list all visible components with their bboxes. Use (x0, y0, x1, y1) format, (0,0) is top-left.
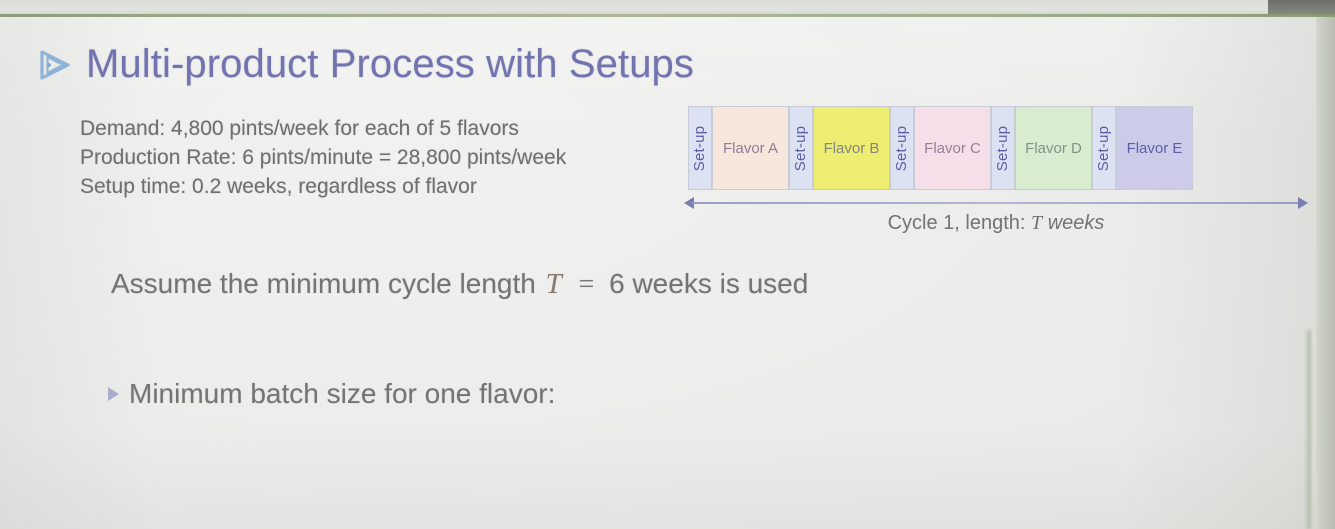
flavor-cell-e: Flavor E (1116, 106, 1193, 190)
arrow-line (692, 202, 1300, 204)
parameter-block: Demand: 4,800 pints/week for each of 5 f… (80, 114, 566, 201)
parameter-line-setup-time: Setup time: 0.2 weeks, regardless of fla… (80, 172, 566, 201)
flavor-cell-label-a: Flavor A (723, 140, 778, 157)
triangle-bullet-icon (108, 387, 119, 401)
flavor-cell-label-c: Flavor C (924, 140, 981, 157)
setup-cell-label-3: Set-up (894, 125, 911, 170)
bullet-item-label: Minimum batch size for one flavor: (129, 378, 555, 410)
cycle-caption-suffix: weeks (1042, 212, 1104, 234)
assumption-operator: = (572, 269, 602, 300)
setup-cell-label-5: Set-up (1096, 125, 1113, 170)
cycle-bar: Set-up Flavor A Set-up Flavor B Set-up F… (688, 106, 1193, 190)
assumption-line: Assume the minimum cycle length T = 6 we… (111, 268, 808, 301)
setup-cell-2: Set-up (789, 106, 813, 190)
flavor-cell-label-d: Flavor D (1025, 140, 1082, 157)
arrow-head-right-icon (1298, 197, 1308, 209)
assumption-prefix: Assume the minimum cycle length (111, 268, 536, 299)
cycle-diagram: Set-up Flavor A Set-up Flavor B Set-up F… (688, 106, 1193, 190)
flavor-cell-label-b: Flavor B (824, 140, 880, 157)
play-triangle-icon (38, 48, 72, 82)
setup-cell-3: Set-up (890, 106, 914, 190)
setup-cell-1: Set-up (688, 106, 712, 190)
cycle-caption-variable: T (1031, 212, 1042, 234)
setup-cell-label-1: Set-up (692, 125, 709, 170)
setup-cell-5: Set-up (1092, 106, 1116, 190)
flavor-cell-c: Flavor C (914, 106, 991, 190)
parameter-line-production-rate: Production Rate: 6 pints/minute = 28,800… (80, 143, 566, 172)
parameter-line-demand: Demand: 4,800 pints/week for each of 5 f… (80, 114, 566, 143)
slide-content: Multi-product Process with Setups Demand… (0, 0, 1335, 529)
assumption-variable: T (544, 268, 564, 300)
flavor-cell-a: Flavor A (712, 106, 789, 190)
bullet-item-min-batch-size: Minimum batch size for one flavor: (108, 378, 555, 410)
page-title: Multi-product Process with Setups (86, 42, 694, 87)
setup-cell-label-2: Set-up (793, 125, 810, 170)
slide-photo-screenshot: Multi-product Process with Setups Demand… (0, 0, 1335, 529)
cycle-length-caption: Cycle 1, length: T weeks (684, 212, 1308, 235)
flavor-cell-d: Flavor D (1015, 106, 1092, 190)
setup-cell-4: Set-up (991, 106, 1015, 190)
flavor-cell-b: Flavor B (813, 106, 890, 190)
flavor-cell-label-e: Flavor E (1127, 140, 1183, 157)
assumption-suffix: 6 weeks is used (609, 268, 808, 299)
setup-cell-label-4: Set-up (995, 125, 1012, 170)
slide-title-row: Multi-product Process with Setups (38, 42, 694, 87)
cycle-length-arrow (684, 196, 1308, 210)
cycle-caption-prefix: Cycle 1, length: (888, 212, 1031, 234)
